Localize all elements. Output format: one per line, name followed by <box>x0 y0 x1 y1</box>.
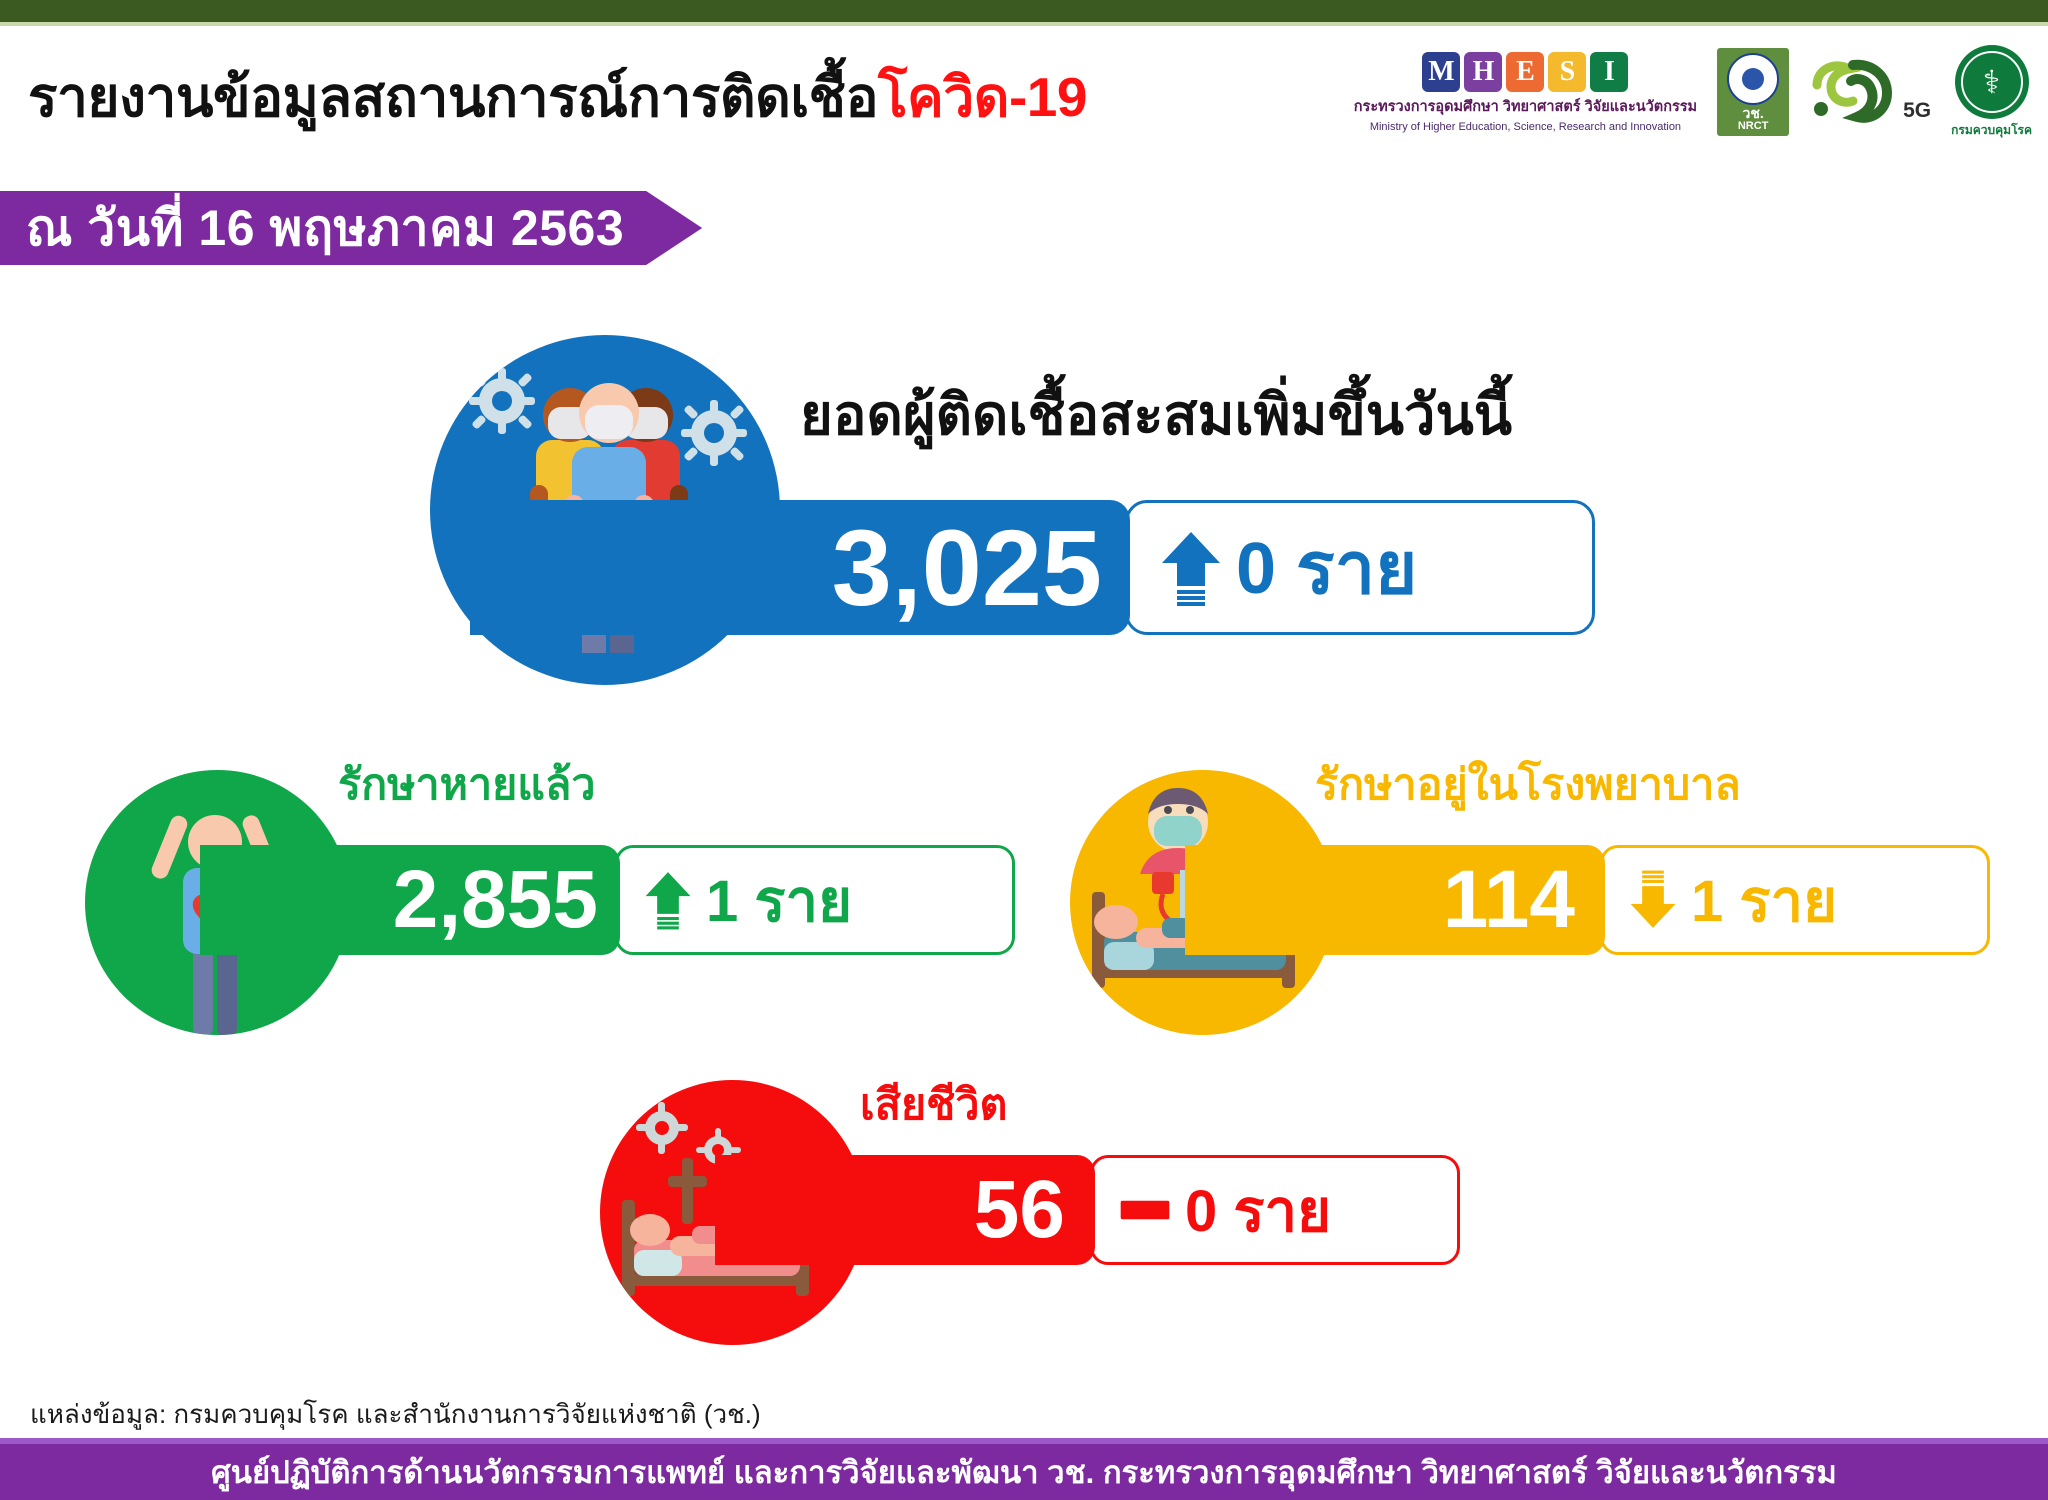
stat-recovered-delta-label: 1 ราย <box>706 854 852 947</box>
stat-total-delta-label: 0 ราย <box>1236 510 1417 625</box>
mhesi-letter-m: M <box>1422 52 1460 92</box>
footer-bar: ศูนย์ปฏิบัติการด้านนวัตกรรมการแพทย์ และก… <box>0 1444 2048 1500</box>
stat-total-heading: ยอดผู้ติดเชื้อสะสมเพิ่มขึ้นวันนี้ <box>800 370 1512 459</box>
mhesi-letter-s: S <box>1548 52 1586 92</box>
nrct-english-abbr: NRCT <box>1738 121 1769 132</box>
stat-recovered-delta: 1 ราย <box>615 845 1015 955</box>
nrct-logo: วช. NRCT <box>1717 48 1789 136</box>
mhesi-letter-blocks: M H E S I <box>1422 52 1628 92</box>
nrct-thai-abbr: วช. <box>1742 106 1763 120</box>
mhesi-thai-name: กระทรวงการอุดมศึกษา วิทยาศาสตร์ วิจัยและ… <box>1354 95 1697 118</box>
stat-hospital-heading: รักษาอยู่ในโรงพยาบาล <box>1315 750 1741 818</box>
stat-recovered-value: 2,855 <box>200 845 620 955</box>
mhesi-letter-h: H <box>1464 52 1502 92</box>
page-title: รายงานข้อมูลสถานการณ์การติดเชื้อโควิด-19 <box>28 54 1087 141</box>
stat-total-value: 3,025 <box>470 500 1130 635</box>
page-title-highlight: โควิด-19 <box>878 66 1087 128</box>
dcd-label: กรมควบคุมโรค <box>1951 121 2032 140</box>
mhesi-letter-e: E <box>1506 52 1544 92</box>
mhesi-letter-i: I <box>1590 52 1628 92</box>
stat-total-delta: 0 ราย <box>1125 500 1595 635</box>
stat-hospital-value: 114 <box>1185 845 1605 955</box>
stat-recovered-heading: รักษาหายแล้ว <box>338 750 596 818</box>
logo-group: M H E S I กระทรวงการอุดมศึกษา วิทยาศาสตร… <box>1354 38 2032 146</box>
stat-deaths-value: 56 <box>715 1155 1095 1265</box>
page-title-main: รายงานข้อมูลสถานการณ์การติดเชื้อ <box>28 66 878 128</box>
nrct-wheel-icon <box>1727 53 1779 105</box>
mhesi-logo: M H E S I กระทรวงการอุดมศึกษา วิทยาศาสตร… <box>1354 52 1697 133</box>
wch-5g-label: 5G <box>1903 99 1931 123</box>
stat-hospital-delta-label: 1 ราย <box>1691 854 1837 947</box>
footer-bar-text: ศูนย์ปฏิบัติการด้านนวัตกรรมการแพทย์ และก… <box>211 1447 1837 1497</box>
dcd-logo: ⚕ กรมควบคุมโรค <box>1951 45 2032 140</box>
arrow-up-icon <box>1160 530 1222 606</box>
page-header: รายงานข้อมูลสถานการณ์การติดเชื้อโควิด-19… <box>0 26 2048 148</box>
stat-deaths-delta: 0 ราย <box>1090 1155 1460 1265</box>
top-decorative-strip <box>0 0 2048 22</box>
source-note: แหล่งข้อมูล: กรมควบคุมโรค และสำนักงานการ… <box>30 1394 761 1435</box>
arrow-down-icon <box>1629 870 1677 930</box>
wch-swirl-icon <box>1809 55 1901 129</box>
stat-hospital-delta: 1 ราย <box>1600 845 1990 955</box>
stat-deaths-delta-label: 0 ราย <box>1185 1164 1331 1257</box>
dcd-seal-icon: ⚕ <box>1955 45 2029 119</box>
wch-logo: 5G <box>1809 55 1931 129</box>
dash-flat-icon <box>1119 1197 1171 1223</box>
arrow-up-icon <box>644 870 692 930</box>
mhesi-english-name: Ministry of Higher Education, Science, R… <box>1370 121 1681 133</box>
date-banner: ณ วันที่ 16 พฤษภาคม 2563 <box>0 191 702 265</box>
stat-deaths-heading: เสียชีวิต <box>860 1070 1007 1138</box>
